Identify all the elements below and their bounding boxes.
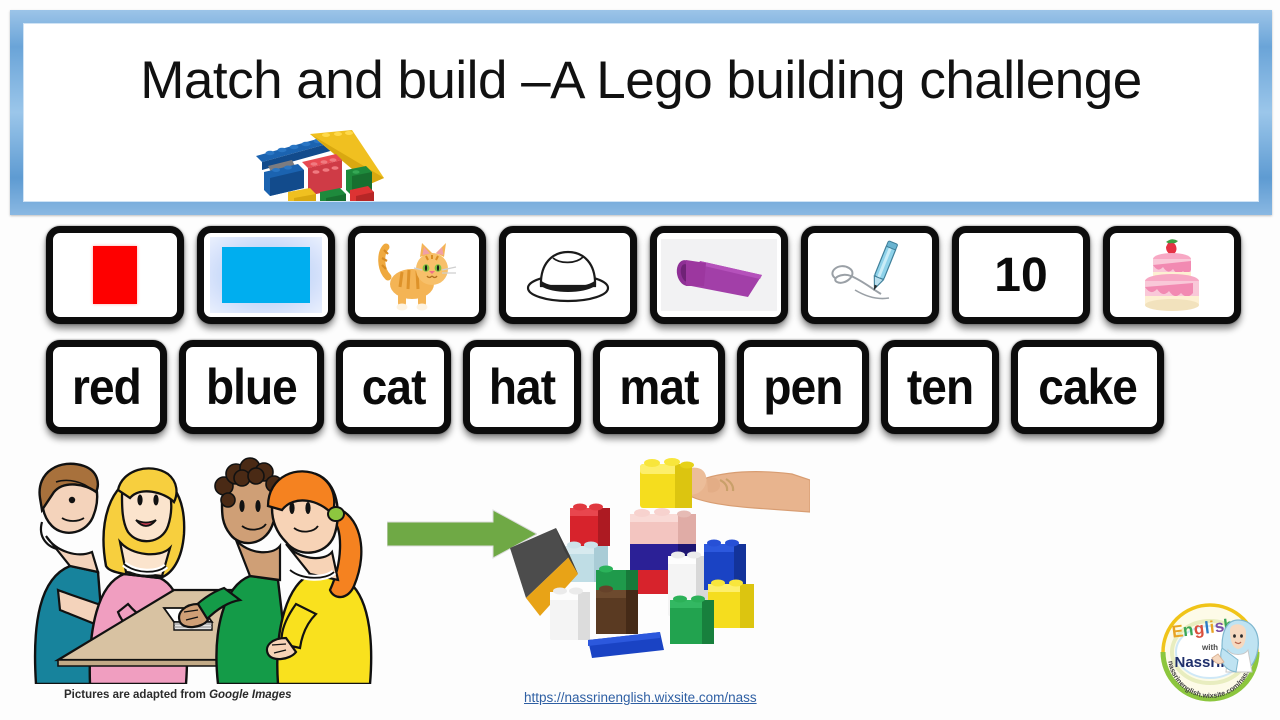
picture-card-hat[interactable] bbox=[499, 226, 637, 324]
word-card-label: blue bbox=[206, 361, 297, 413]
word-card-mat[interactable]: mat bbox=[593, 340, 725, 434]
picture-card-red[interactable] bbox=[46, 226, 184, 324]
picture-card-mat[interactable] bbox=[650, 226, 788, 324]
word-card-label: ten bbox=[907, 361, 973, 413]
picture-card-cat[interactable] bbox=[348, 226, 486, 324]
english-with-nassrin-logo[interactable]: nassrinenglish.wixsite.com/nass E n g l … bbox=[1152, 600, 1268, 704]
blue-pen-scribble-icon bbox=[825, 240, 915, 310]
picture-card-row: 10 bbox=[46, 226, 1241, 324]
four-children-at-table-with-cards-icon bbox=[6, 452, 392, 684]
title-frame-inner: Match and build –A Lego building challen… bbox=[23, 23, 1259, 202]
word-card-cat[interactable]: cat bbox=[336, 340, 451, 434]
word-card-label: hat bbox=[489, 361, 555, 413]
slide-canvas: Match and build –A Lego building challen… bbox=[0, 0, 1280, 720]
word-card-row: red blue cat hat mat pen ten cake bbox=[46, 340, 1164, 434]
word-card-red[interactable]: red bbox=[46, 340, 167, 434]
purple-rolled-mat-icon bbox=[666, 245, 772, 305]
lego-bricks-pile-icon bbox=[250, 122, 400, 202]
word-card-hat[interactable]: hat bbox=[463, 340, 581, 434]
page-title: Match and build –A Lego building challen… bbox=[24, 38, 1258, 124]
word-card-pen[interactable]: pen bbox=[737, 340, 869, 434]
blue-square-glow bbox=[210, 237, 322, 313]
credit-source: Google Images bbox=[209, 689, 291, 701]
word-card-label: cat bbox=[361, 361, 425, 413]
word-card-cake[interactable]: cake bbox=[1011, 340, 1164, 434]
website-link[interactable]: https://nassrinenglish.wixsite.com/nass bbox=[524, 690, 757, 705]
title-frame: Match and build –A Lego building challen… bbox=[10, 10, 1272, 215]
white-fedora-hat-icon bbox=[520, 244, 616, 306]
red-square-icon bbox=[93, 246, 137, 304]
logo-with-text: with bbox=[1201, 643, 1218, 652]
orange-cat-icon bbox=[374, 235, 460, 315]
word-card-label: red bbox=[72, 361, 141, 413]
word-card-label: mat bbox=[619, 361, 698, 413]
picture-card-blue[interactable] bbox=[197, 226, 335, 324]
word-card-label: cake bbox=[1038, 361, 1137, 413]
picture-card-ten[interactable]: 10 bbox=[952, 226, 1090, 324]
picture-credit: Pictures are adapted from Google Images bbox=[64, 689, 292, 701]
mat-image-background bbox=[661, 239, 777, 311]
lego-blocks-with-hand-icon bbox=[492, 452, 810, 682]
word-card-blue[interactable]: blue bbox=[179, 340, 324, 434]
word-card-label: pen bbox=[763, 361, 842, 413]
credit-prefix: Pictures are adapted from bbox=[64, 689, 209, 701]
pink-layer-cake-icon bbox=[1136, 235, 1208, 315]
picture-card-pen[interactable] bbox=[801, 226, 939, 324]
blue-square-icon bbox=[222, 247, 310, 303]
word-card-ten[interactable]: ten bbox=[881, 340, 999, 434]
picture-card-cake[interactable] bbox=[1103, 226, 1241, 324]
number-ten-icon: 10 bbox=[994, 248, 1047, 303]
